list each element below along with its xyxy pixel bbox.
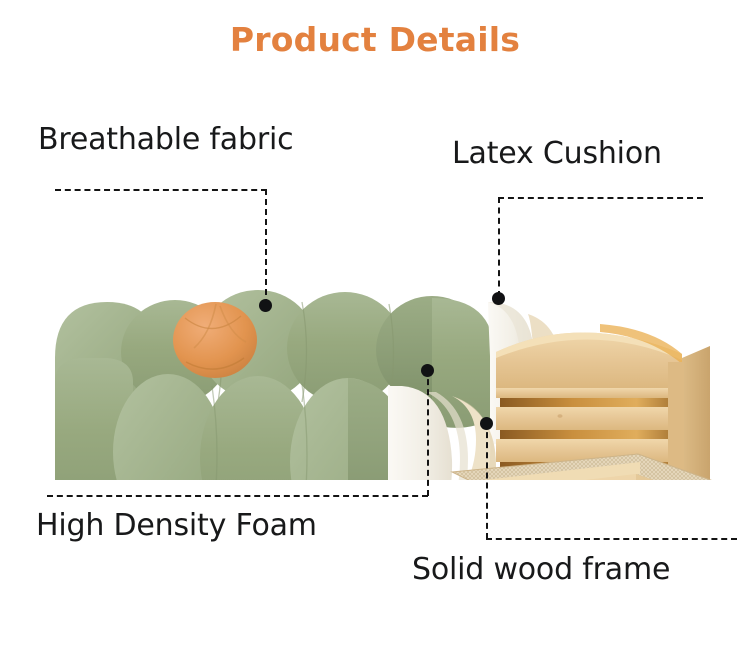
leader-line-high-density-foam-vertical — [427, 369, 429, 496]
leader-dot-latex-cushion — [492, 292, 505, 305]
leader-line-latex-cushion-vertical — [498, 197, 500, 297]
callout-label-latex-cushion: Latex Cushion — [452, 136, 662, 171]
page-title: Product Details — [0, 20, 750, 59]
leader-line-breathable-fabric-horizontal — [55, 189, 267, 191]
callout-label-high-density-foam: High Density Foam — [36, 508, 317, 543]
accent-pillow — [173, 302, 257, 378]
leader-dot-breathable-fabric — [259, 299, 272, 312]
leader-line-high-density-foam-horizontal — [47, 495, 428, 497]
leader-dot-high-density-foam — [421, 364, 434, 377]
callout-label-solid-wood-frame: Solid wood frame — [412, 552, 670, 587]
product-detail-image: Product Details — [0, 0, 750, 651]
leader-line-breathable-fabric-vertical — [265, 189, 267, 305]
leader-dot-solid-wood-frame — [480, 417, 493, 430]
leader-line-latex-cushion-horizontal — [498, 197, 703, 199]
callout-label-breathable-fabric: Breathable fabric — [38, 122, 293, 157]
product-illustration — [0, 240, 750, 480]
leader-line-solid-wood-frame-horizontal — [486, 538, 737, 540]
leader-line-solid-wood-frame-vertical — [486, 422, 488, 539]
